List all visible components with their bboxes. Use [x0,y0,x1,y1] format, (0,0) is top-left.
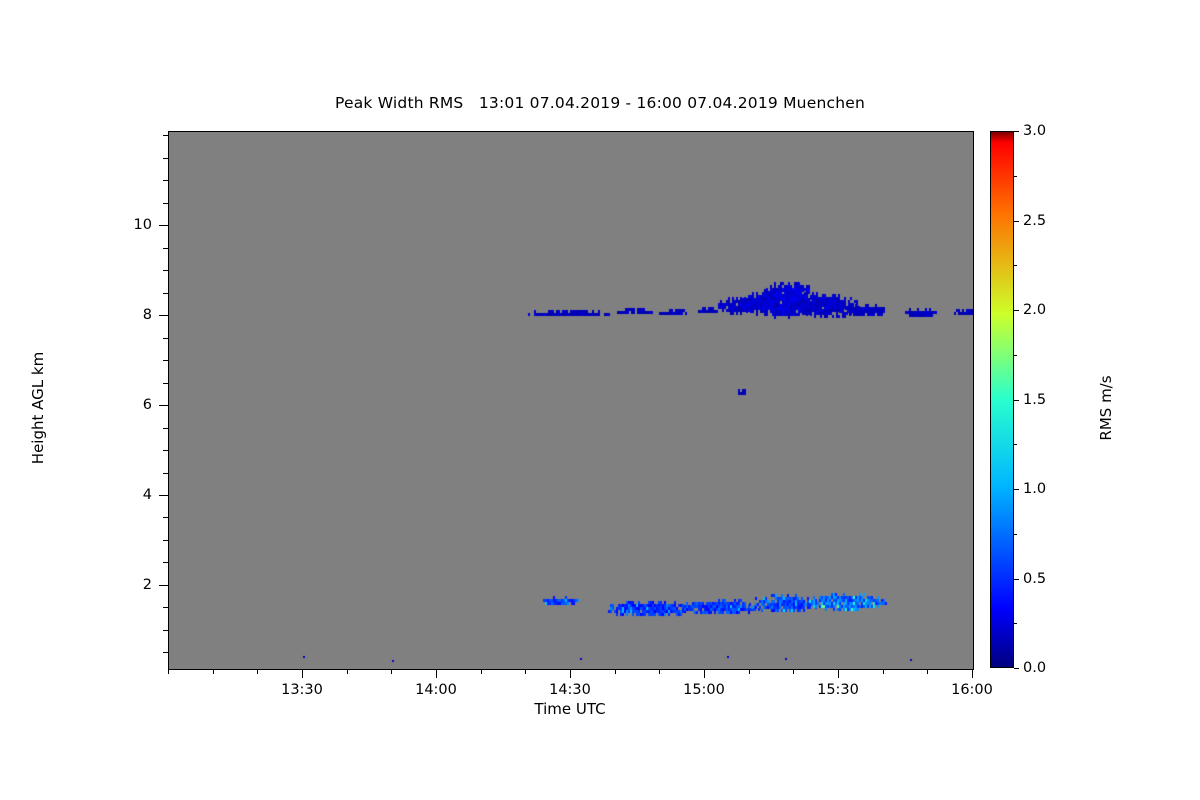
colorbar-tick [1014,310,1019,311]
y-tick-minor [163,270,168,271]
x-tick-major [972,669,973,678]
y-tick-minor [163,158,168,159]
x-tick-minor [749,669,750,674]
y-tick-minor [163,473,168,474]
colorbar-tick [1014,668,1019,669]
colorbar-tick-minor [1014,355,1017,356]
y-tick-major [159,315,168,316]
x-axis-title: Time UTC [168,700,972,718]
colorbar-tick-minor [1014,534,1017,535]
y-tick-minor [163,517,168,518]
colorbar-tick-minor [1014,176,1017,177]
colorbar-tick [1014,400,1019,401]
y-tick-minor [163,607,168,608]
x-tick-minor [213,669,214,674]
x-tick-minor [391,669,392,674]
y-tick-minor [163,360,168,361]
y-tick-minor [163,652,168,653]
colorbar-tick-label: 1.0 [1023,481,1046,497]
y-tick-label: 6 [120,397,152,413]
y-tick-label: 4 [120,487,152,503]
x-tick-label: 16:00 [932,682,1012,698]
y-axis-title: Height AGL km [29,308,47,508]
x-tick-major [838,669,839,678]
y-tick-minor [163,540,168,541]
x-tick-label: 15:00 [664,682,744,698]
colorbar-gradient [990,131,1014,668]
x-tick-minor [659,669,660,674]
x-tick-major [436,669,437,678]
colorbar-tick-label: 0.5 [1023,571,1046,587]
y-tick-major [159,225,168,226]
colorbar-tick [1014,131,1019,132]
y-tick-minor [163,630,168,631]
colorbar-tick [1014,489,1019,490]
colorbar-tick-label: 2.5 [1023,213,1046,229]
y-tick-minor [163,383,168,384]
colorbar-tick-label: 1.5 [1023,392,1046,408]
chart-title: Peak Width RMS 13:01 07.04.2019 - 16:00 … [0,94,1200,112]
x-tick-minor [347,669,348,674]
colorbar-tick-minor [1014,444,1017,445]
x-tick-minor [168,669,169,674]
x-tick-minor [793,669,794,674]
x-tick-minor [927,669,928,674]
x-tick-label: 14:00 [396,682,476,698]
y-tick-minor [163,450,168,451]
colorbar-tick-label: 0.0 [1023,660,1046,676]
colorbar-tick-minor [1014,265,1017,266]
y-tick-minor [163,248,168,249]
x-tick-minor [883,669,884,674]
x-tick-label: 14:30 [530,682,610,698]
x-tick-minor [257,669,258,674]
y-tick-minor [163,338,168,339]
x-tick-label: 15:30 [798,682,878,698]
y-tick-minor [163,562,168,563]
y-tick-major [159,495,168,496]
y-tick-minor [163,293,168,294]
x-tick-minor [525,669,526,674]
x-tick-minor [481,669,482,674]
x-tick-major [302,669,303,678]
figure-canvas: Peak Width RMS 13:01 07.04.2019 - 16:00 … [0,0,1200,800]
heatmap-data-layer [169,132,973,669]
plot-area[interactable] [168,131,974,670]
colorbar-title: RMS m/s [1097,308,1115,508]
y-tick-minor [163,135,168,136]
x-tick-major [570,669,571,678]
y-tick-major [159,405,168,406]
y-tick-minor [163,180,168,181]
y-tick-label: 2 [120,577,152,593]
colorbar[interactable]: 0.00.51.01.52.02.53.0 [990,131,1014,668]
y-tick-label: 10 [120,217,152,233]
x-tick-minor [615,669,616,674]
colorbar-tick [1014,579,1019,580]
y-tick-major [159,585,168,586]
colorbar-tick-label: 3.0 [1023,123,1046,139]
y-tick-minor [163,428,168,429]
y-tick-label: 8 [120,307,152,323]
colorbar-tick-minor [1014,623,1017,624]
colorbar-tick-label: 2.0 [1023,302,1046,318]
y-tick-minor [163,203,168,204]
colorbar-tick [1014,221,1019,222]
x-tick-major [704,669,705,678]
x-tick-label: 13:30 [262,682,342,698]
